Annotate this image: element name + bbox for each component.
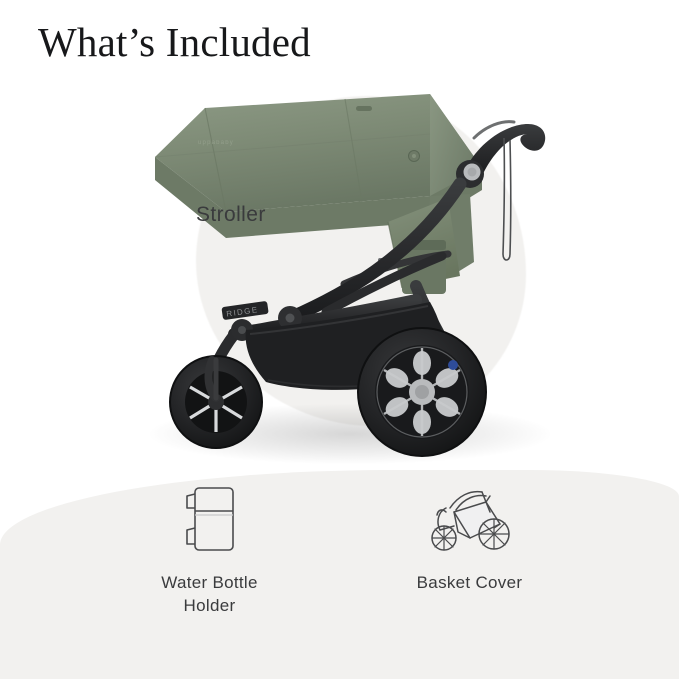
accessory-label-line-2: Holder bbox=[161, 595, 258, 618]
front-wheel bbox=[170, 356, 262, 448]
accessory-label-line-1: Basket Cover bbox=[417, 572, 523, 595]
infographic-page: What’s Included bbox=[0, 0, 679, 679]
accessory-label: Basket Cover bbox=[417, 572, 523, 595]
rear-wheel bbox=[358, 328, 486, 456]
canopy-brand-wordmark: uppababy bbox=[198, 140, 234, 146]
accessory-label-line-1: Water Bottle bbox=[161, 572, 258, 595]
basket-cover-icon bbox=[424, 482, 516, 556]
accessory-item: Basket Cover bbox=[395, 482, 545, 595]
accessories-row: Water Bottle Holder bbox=[0, 482, 679, 618]
water-bottle-holder-icon bbox=[179, 482, 241, 556]
stroller-illustration: uppababy bbox=[130, 72, 550, 472]
accessory-label: Water Bottle Holder bbox=[161, 572, 258, 618]
stroller-callout-label: Stroller bbox=[196, 203, 266, 227]
page-title: What’s Included bbox=[38, 20, 311, 65]
accessory-item: Water Bottle Holder bbox=[135, 482, 285, 618]
